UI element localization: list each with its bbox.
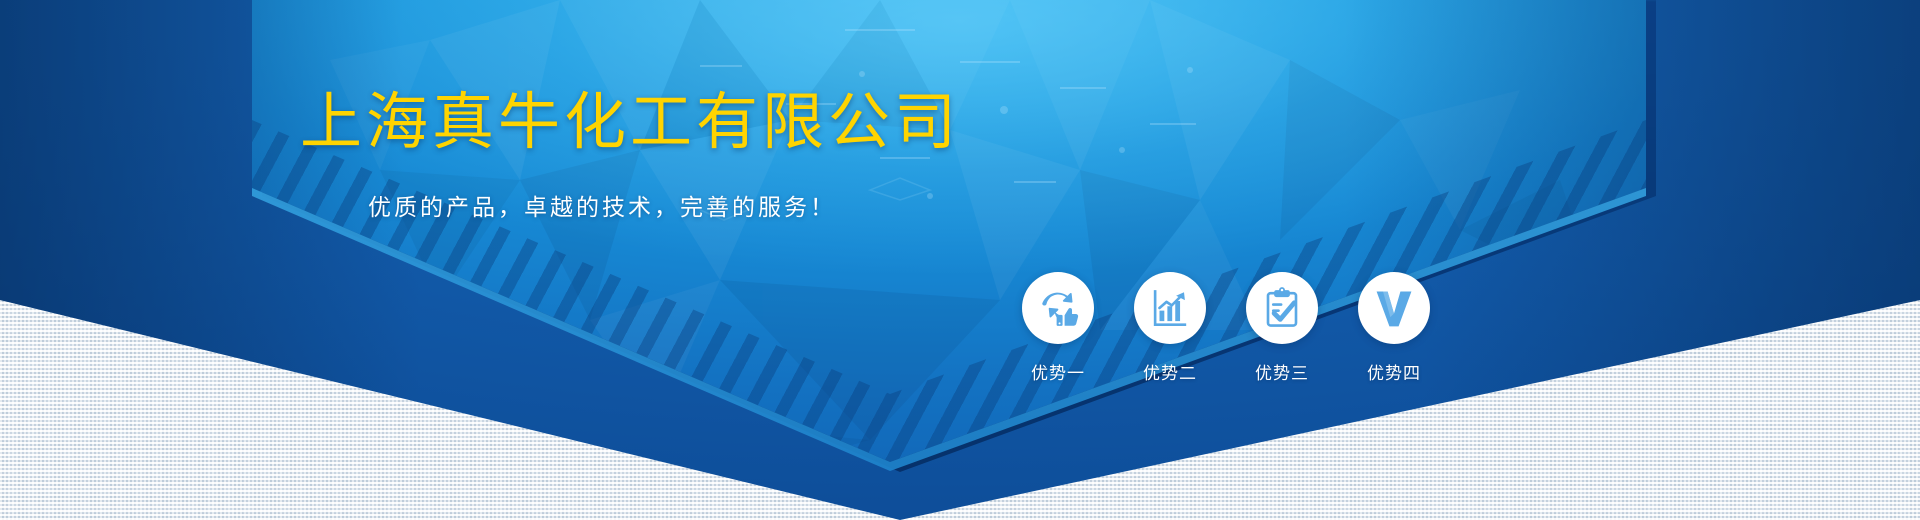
clipboard-check-icon [1261, 287, 1303, 329]
advantage-label-2: 优势二 [1143, 359, 1197, 384]
company-title: 上海真牛化工有限公司 [300, 92, 960, 154]
refresh-thumbsup-icon [1036, 286, 1080, 330]
advantage-icon-circle-2[interactable] [1134, 272, 1206, 344]
advantage-icon-circle-4[interactable] [1358, 272, 1430, 344]
advantage-item-3[interactable]: 优势三 [1246, 272, 1318, 384]
advantage-icon-circle-1[interactable] [1022, 272, 1094, 344]
advantage-item-2[interactable]: 优势二 [1134, 272, 1206, 384]
advantage-list: 优势一 优势二 [1022, 272, 1430, 384]
company-slogan: 优质的产品，卓越的技术，完善的服务！ [368, 196, 836, 219]
advantage-label-1: 优势一 [1031, 359, 1085, 384]
advantage-item-4[interactable]: 优势四 [1358, 272, 1430, 384]
company-hero-banner: 上海真牛化工有限公司 优质的产品，卓越的技术，完善的服务！ 优势一 [0, 0, 1920, 520]
v-check-icon [1372, 286, 1416, 330]
advantage-icon-circle-3[interactable] [1246, 272, 1318, 344]
advantage-label-3: 优势三 [1255, 359, 1309, 384]
advantage-item-1[interactable]: 优势一 [1022, 272, 1094, 384]
advantage-label-4: 优势四 [1367, 359, 1421, 384]
bar-chart-growth-icon [1149, 287, 1191, 329]
